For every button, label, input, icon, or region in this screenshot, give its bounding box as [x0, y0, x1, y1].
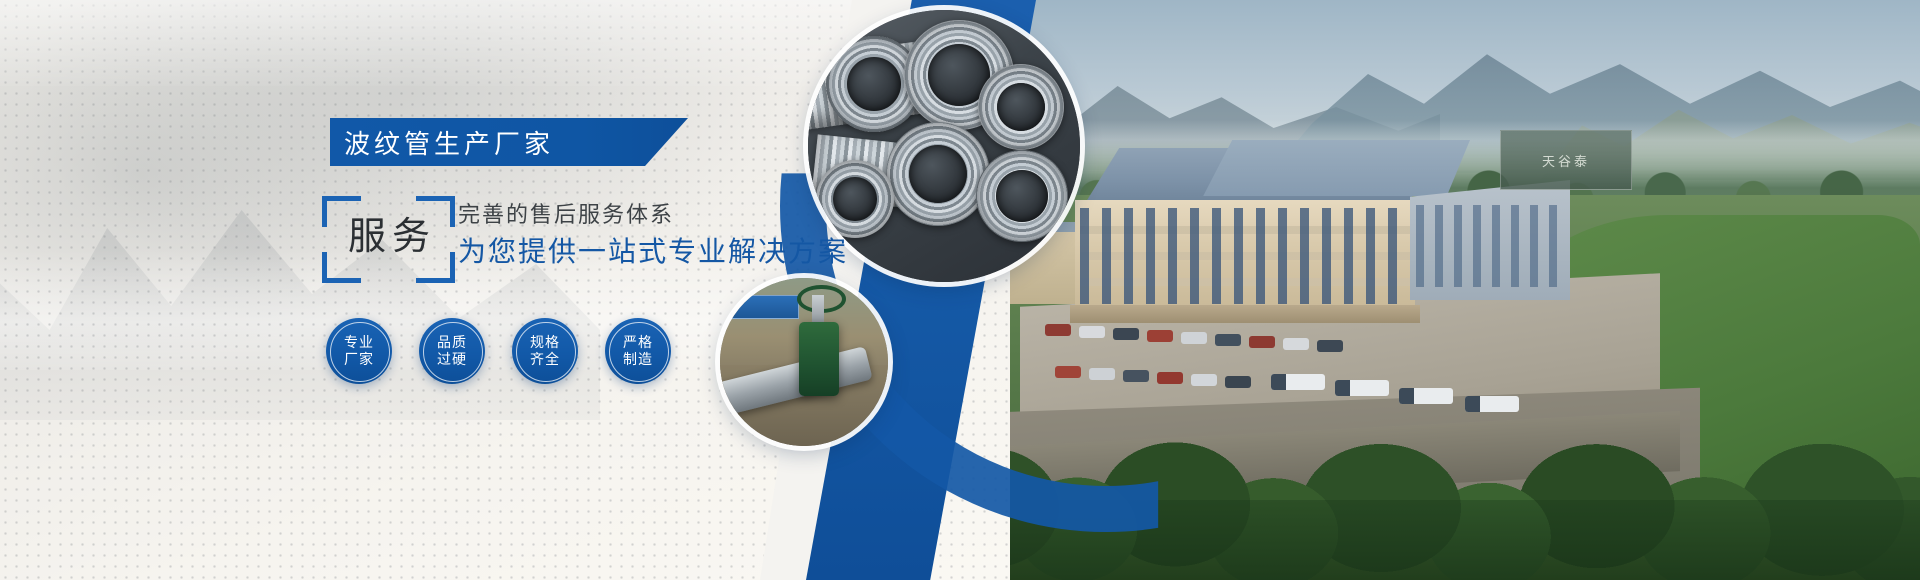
- parked-car: [1225, 376, 1251, 388]
- service-description: 完善的售后服务体系 为您提供一站式专业解决方案: [458, 200, 848, 272]
- badge-label: 规格 齐全: [530, 334, 560, 368]
- service-line-1: 完善的售后服务体系: [458, 200, 848, 230]
- badge-label: 品质 过硬: [437, 334, 467, 368]
- feature-badge-professional[interactable]: 专业 厂家: [326, 318, 392, 384]
- title-ribbon: 波纹管生产厂家: [330, 118, 688, 166]
- badge-label: 专业 厂家: [344, 334, 374, 368]
- banner-text-content: 波纹管生产厂家 服务 完善的售后服务体系 为您提供一站式专业解决方案 专业 厂家: [0, 0, 1010, 580]
- parked-car: [1249, 336, 1275, 348]
- service-line-2: 为您提供一站式专业解决方案: [458, 232, 848, 272]
- warehouse-window-band: [1416, 205, 1564, 287]
- parked-truck: [1271, 374, 1325, 390]
- parked-truck: [1335, 380, 1389, 396]
- badge-line-2: 过硬: [437, 351, 467, 367]
- feature-badge-manufacturing[interactable]: 严格 制造: [605, 318, 671, 384]
- parked-car: [1215, 334, 1241, 346]
- badge-line-1: 严格: [623, 334, 653, 350]
- hero-banner: 天谷泰 波纹管生产厂家: [0, 0, 1920, 580]
- parked-car: [1181, 332, 1207, 344]
- parked-car: [1157, 372, 1183, 384]
- badge-line-2: 齐全: [530, 351, 560, 367]
- page-title: 波纹管生产厂家: [330, 124, 554, 161]
- feature-badge-group: 专业 厂家 品质 过硬 规格 齐全: [326, 318, 746, 408]
- feature-badge-specifications[interactable]: 规格 齐全: [512, 318, 578, 384]
- badge-line-2: 制造: [623, 351, 653, 367]
- parked-car: [1283, 338, 1309, 350]
- parked-car: [1317, 340, 1343, 352]
- badge-line-2: 厂家: [344, 351, 374, 367]
- site-sign-text: 天谷泰: [1542, 151, 1590, 170]
- badge-line-1: 专业: [344, 334, 374, 350]
- service-heading-block: 服务 完善的售后服务体系 为您提供一站式专业解决方案: [322, 196, 962, 278]
- feature-badge-quality[interactable]: 品质 过硬: [419, 318, 485, 384]
- service-keyword: 服务: [336, 208, 448, 266]
- badge-line-1: 规格: [530, 334, 560, 350]
- parked-car: [1191, 374, 1217, 386]
- badge-line-1: 品质: [437, 334, 467, 350]
- badge-label: 严格 制造: [623, 334, 653, 368]
- site-sign-plate: 天谷泰: [1500, 130, 1632, 190]
